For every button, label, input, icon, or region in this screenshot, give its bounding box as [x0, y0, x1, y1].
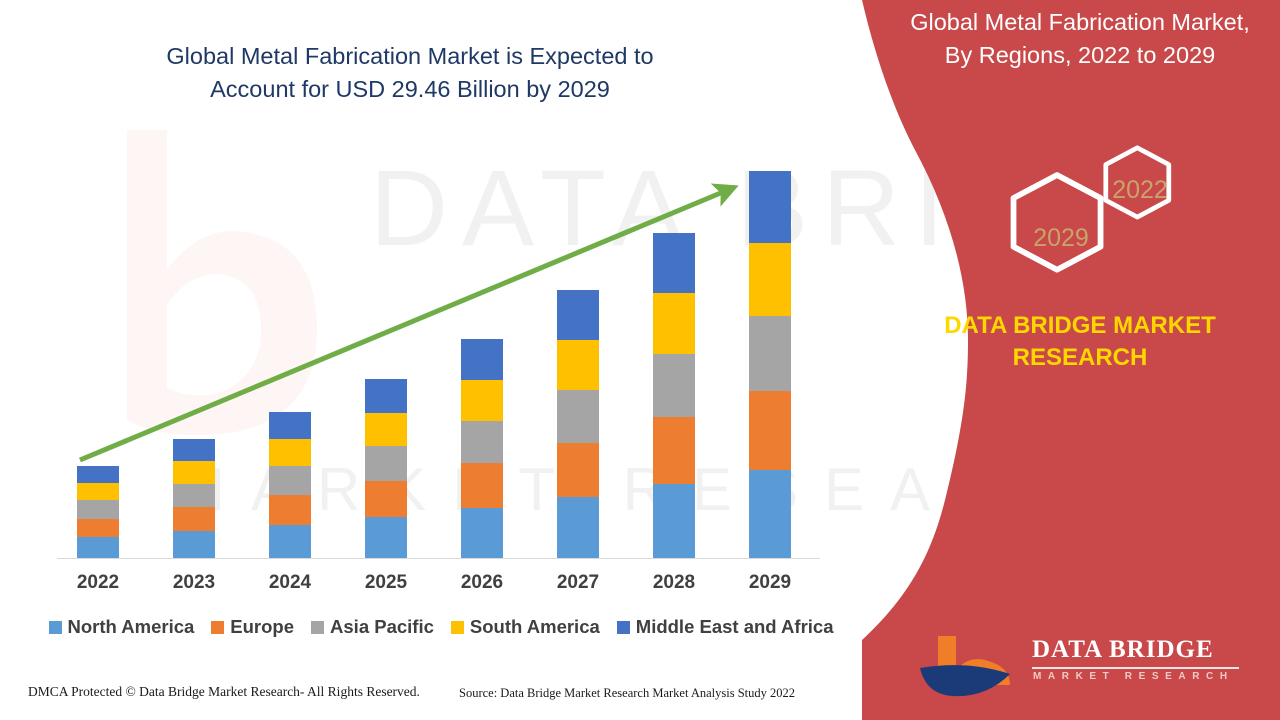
bar-segment	[77, 537, 119, 559]
data-bridge-logo-icon	[890, 630, 1040, 700]
logo-text-main: DATA BRIDGE	[1032, 636, 1214, 664]
bar-segment	[749, 316, 791, 391]
legend-label: Middle East and Africa	[636, 616, 834, 638]
x-tick-2024: 2024	[245, 572, 335, 594]
legend-label: North America	[68, 616, 195, 638]
bar-segment	[557, 290, 599, 340]
brand-panel-title-line1: Global Metal Fabrication Market,	[890, 6, 1270, 39]
legend-label: Europe	[230, 616, 294, 638]
bar-2024	[269, 412, 311, 559]
bar-segment	[749, 243, 791, 316]
brand-name: DATA BRIDGE MARKET RESEARCH	[880, 310, 1280, 374]
legend-item-europe[interactable]: Europe	[211, 616, 294, 638]
x-tick-2029: 2029	[725, 572, 815, 594]
logo-text-sub: MARKET RESEARCH	[1033, 671, 1234, 682]
bar-segment	[77, 483, 119, 500]
company-logo: DATA BRIDGE MARKET RESEARCH	[880, 630, 1280, 700]
page-title: Global Metal Fabrication Market is Expec…	[60, 40, 760, 106]
bar-segment	[365, 413, 407, 446]
legend-item-north-america[interactable]: North America	[49, 616, 195, 638]
year-hexagon-badges: 2029 2022	[980, 140, 1200, 280]
bar-2025	[365, 379, 407, 559]
bar-segment	[749, 391, 791, 470]
bar-segment	[365, 481, 407, 517]
bar-segment	[173, 439, 215, 461]
legend-swatch-icon	[211, 621, 224, 634]
bar-segment	[461, 380, 503, 421]
bar-segment	[365, 517, 407, 559]
bar-segment	[77, 500, 119, 518]
bar-segment	[749, 171, 791, 243]
bar-segment	[653, 233, 695, 293]
bar-segment	[173, 484, 215, 507]
legend-swatch-icon	[311, 621, 324, 634]
bar-segment	[557, 443, 599, 497]
bar-segment	[365, 446, 407, 481]
page-title-line1: Global Metal Fabrication Market is Expec…	[60, 40, 760, 73]
bar-segment	[461, 463, 503, 508]
x-tick-2028: 2028	[629, 572, 719, 594]
bar-segment	[461, 339, 503, 379]
bar-segment	[77, 466, 119, 483]
bar-segment	[173, 531, 215, 559]
bar-segment	[557, 497, 599, 559]
legend-item-middle-east-and-africa[interactable]: Middle East and Africa	[617, 616, 834, 638]
bar-2028	[653, 233, 695, 559]
bar-segment	[749, 470, 791, 559]
bar-segment	[173, 507, 215, 531]
legend-item-south-america[interactable]: South America	[451, 616, 600, 638]
bar-segment	[269, 412, 311, 439]
bar-segment	[653, 484, 695, 559]
bar-2029	[749, 171, 791, 559]
brand-panel: Global Metal Fabrication Market, By Regi…	[880, 0, 1280, 720]
legend-label: South America	[470, 616, 600, 638]
source-note: Source: Data Bridge Market Research Mark…	[459, 686, 795, 701]
brand-panel-title-line2: By Regions, 2022 to 2029	[890, 39, 1270, 72]
bar-segment	[365, 379, 407, 412]
x-tick-2022: 2022	[53, 572, 143, 594]
bar-segment	[653, 354, 695, 417]
bar-segment	[557, 390, 599, 442]
bar-segment	[269, 495, 311, 525]
bar-2022	[77, 466, 119, 559]
bar-segment	[461, 421, 503, 464]
x-tick-2023: 2023	[149, 572, 239, 594]
bar-2027	[557, 290, 599, 559]
legend-label: Asia Pacific	[330, 616, 434, 638]
bar-segment	[653, 293, 695, 354]
legend-swatch-icon	[451, 621, 464, 634]
bar-segment	[557, 340, 599, 390]
stacked-bar-chart	[57, 160, 820, 559]
brand-name-line1: DATA BRIDGE MARKET	[880, 310, 1280, 342]
bar-segment	[461, 508, 503, 559]
bar-2023	[173, 439, 215, 559]
bar-segment	[653, 417, 695, 483]
infographic-page: DATA BRIDGE MARKET RESEARCH Global Metal…	[0, 0, 1280, 720]
chart-legend: North AmericaEuropeAsia PacificSouth Ame…	[46, 616, 836, 638]
hexagon-2029-label: 2029	[1033, 224, 1089, 252]
bar-segment	[269, 525, 311, 559]
x-tick-2027: 2027	[533, 572, 623, 594]
hexagon-2022-label: 2022	[1112, 176, 1168, 204]
x-axis-line	[57, 558, 820, 559]
x-tick-2026: 2026	[437, 572, 527, 594]
bar-segment	[77, 519, 119, 538]
dmca-notice: DMCA Protected © Data Bridge Market Rese…	[28, 684, 420, 700]
logo-divider	[1032, 667, 1239, 669]
legend-item-asia-pacific[interactable]: Asia Pacific	[311, 616, 434, 638]
hexagon-2029-shape	[1014, 175, 1101, 270]
bar-2026	[461, 339, 503, 559]
page-title-line2: Account for USD 29.46 Billion by 2029	[60, 73, 760, 106]
brand-name-line2: RESEARCH	[880, 342, 1280, 374]
bar-segment	[269, 439, 311, 466]
brand-panel-title: Global Metal Fabrication Market, By Regi…	[890, 6, 1270, 72]
bar-segment	[173, 461, 215, 483]
x-tick-2025: 2025	[341, 572, 431, 594]
legend-swatch-icon	[49, 621, 62, 634]
bar-segment	[269, 466, 311, 495]
chart-panel: DATA BRIDGE MARKET RESEARCH Global Metal…	[0, 0, 980, 720]
legend-swatch-icon	[617, 621, 630, 634]
